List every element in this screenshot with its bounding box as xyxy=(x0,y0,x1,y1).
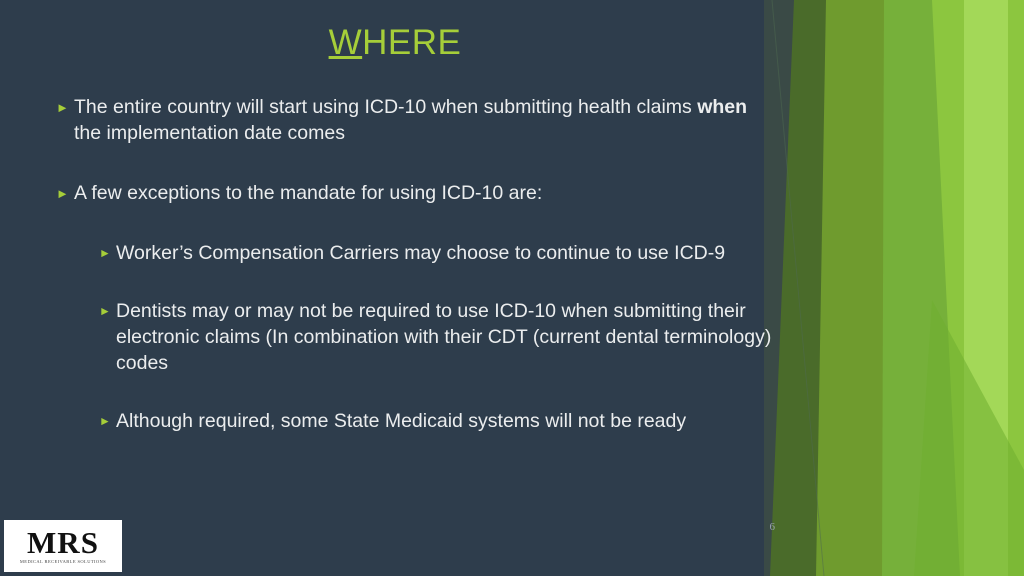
list-item-text: Worker’s Compensation Carriers may choos… xyxy=(116,240,776,266)
triangle-bullet-icon: ► xyxy=(56,101,74,114)
title-remainder: HERE xyxy=(362,23,461,62)
triangle-bullet-icon: ► xyxy=(56,187,74,200)
list-item-text: Although required, some State Medicaid s… xyxy=(116,408,776,434)
list-item: ► A few exceptions to the mandate for us… xyxy=(56,180,776,206)
list-item: ► Although required, some State Medicaid… xyxy=(99,408,776,434)
decorative-green-shapes xyxy=(764,0,1024,576)
list-item-text: Dentists may or may not be required to u… xyxy=(116,298,776,376)
bullet-list: ► The entire country will start using IC… xyxy=(56,94,776,466)
logo: MRS MEDICAL RECEIVABLE SOLUTIONS xyxy=(4,520,122,572)
page-title: WHERE xyxy=(0,22,790,64)
page-number: 6 xyxy=(770,521,776,533)
list-item-text: The entire country will start using ICD-… xyxy=(74,94,776,146)
list-item: ► The entire country will start using IC… xyxy=(56,94,776,146)
triangle-bullet-icon: ► xyxy=(99,247,116,260)
list-item: ► Dentists may or may not be required to… xyxy=(99,298,776,376)
title-first-letter: W xyxy=(329,23,363,62)
list-item: ► Worker’s Compensation Carriers may cho… xyxy=(99,240,776,266)
triangle-bullet-icon: ► xyxy=(99,415,116,428)
slide: WHERE ► The entire country will start us… xyxy=(0,0,1024,576)
logo-mark: MRS xyxy=(27,527,99,559)
logo-subtitle: MEDICAL RECEIVABLE SOLUTIONS xyxy=(20,559,106,565)
list-item-text: A few exceptions to the mandate for usin… xyxy=(74,180,776,206)
triangle-bullet-icon: ► xyxy=(99,305,116,318)
